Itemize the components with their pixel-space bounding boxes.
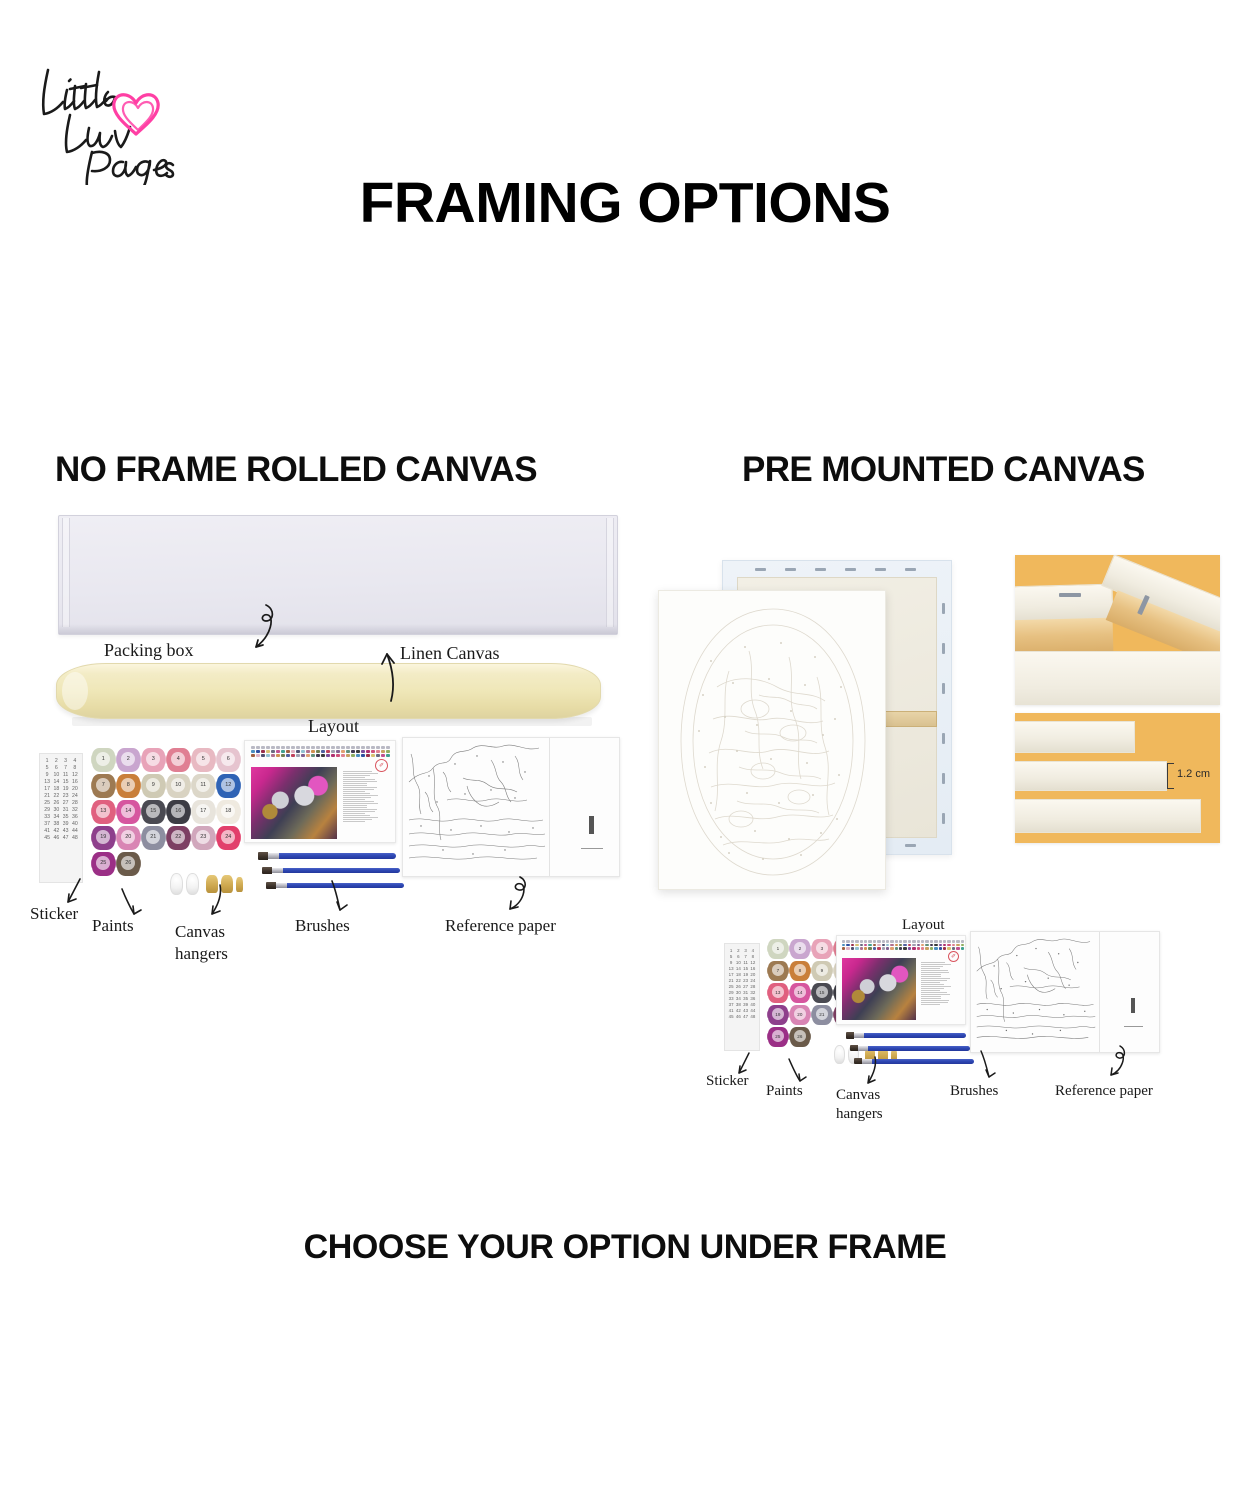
paint-pot-number: 9: [816, 964, 829, 976]
layout-swatch: [331, 746, 335, 749]
paint-pot: 14: [117, 800, 140, 824]
layout-swatch: [868, 947, 871, 950]
layout-swatch: [956, 940, 959, 943]
sticker-number: 36: [71, 814, 79, 820]
layout-swatch: [381, 750, 385, 753]
sticker-number: 29: [728, 990, 734, 995]
sticker-number: 37: [728, 1002, 734, 1007]
sticker-number: 19: [62, 786, 70, 792]
layout-swatch: [908, 940, 911, 943]
layout-swatch: [251, 750, 255, 753]
sticker-number: 5: [43, 765, 51, 771]
layout-swatch: [908, 944, 911, 947]
sticker-number: 2: [735, 948, 741, 953]
section-title-no-frame-rolled-canvas: NO FRAME ROLLED CANVAS: [55, 450, 537, 490]
sticker-number: 3: [743, 948, 749, 953]
layout-swatch: [296, 754, 300, 757]
layout-swatch: [341, 750, 345, 753]
layout-swatch: [890, 944, 893, 947]
arrow-canvas-hangers: [200, 883, 228, 919]
sticker-number: 10: [735, 960, 741, 965]
section-title-pre-mounted-canvas: PRE MOUNTED CANVAS: [742, 450, 1145, 490]
label-brushes-right: Brushes: [950, 1083, 998, 1099]
sticker-number: 12: [750, 960, 756, 965]
instruction-line: [343, 815, 370, 816]
instruction-line: [343, 797, 371, 798]
instruction-line: [921, 988, 944, 989]
sticker-number: 1: [43, 758, 51, 764]
layout-swatch: [921, 940, 924, 943]
instruction-line: [921, 996, 941, 997]
layout-swatch: [346, 750, 350, 753]
paint-pot: 2: [790, 939, 810, 959]
label-linen-canvas: Linen Canvas: [400, 644, 499, 663]
sticker-number: 22: [735, 978, 741, 983]
sticker-number: 25: [728, 984, 734, 989]
sticker-number: 38: [735, 1002, 741, 1007]
layout-swatch: [356, 750, 360, 753]
layout-swatch: [376, 754, 380, 757]
sticker-number: 4: [71, 758, 79, 764]
paint-pot-number: 21: [816, 1008, 829, 1020]
sticker-number: 32: [750, 990, 756, 995]
instruction-line: [343, 807, 367, 808]
sticker-number: 33: [728, 996, 734, 1001]
layout-swatch: [886, 940, 889, 943]
sticker-number: 6: [735, 954, 741, 959]
layout-swatch: [939, 940, 942, 943]
arrow-brushes: [326, 879, 350, 915]
instruction-line: [343, 801, 374, 802]
layout-swatch: [281, 754, 285, 757]
paint-pots-image: 1234567891011121314151617181920212223242…: [92, 748, 242, 877]
layout-swatch: [346, 754, 350, 757]
layout-swatch: [301, 754, 305, 757]
layout-swatch: [855, 940, 858, 943]
layout-swatch: [256, 750, 260, 753]
layout-swatch: [864, 944, 867, 947]
instruction-line: [921, 1000, 949, 1001]
paint-pot-number: 4: [171, 752, 185, 767]
layout-swatch: [925, 944, 928, 947]
sticker-number: 25: [43, 800, 51, 806]
paint-pot-number: 17: [196, 804, 210, 819]
sticker-number: 26: [735, 984, 741, 989]
label-reference-paper-right: Reference paper: [1055, 1083, 1153, 1099]
sticker-number: 24: [71, 793, 79, 799]
layout-swatch: [873, 944, 876, 947]
paint-pot: 14: [790, 983, 810, 1003]
sticker-number: 34: [52, 814, 60, 820]
paint-pot-number: 1: [772, 942, 785, 954]
instruction-line: [921, 1002, 948, 1003]
layout-swatch: [261, 746, 265, 749]
paint-pot-number: 26: [121, 856, 135, 871]
canvas-thickness-detail-photo: 1.2 cm: [1015, 713, 1220, 843]
layout-swatch: [376, 746, 380, 749]
layout-swatch: [943, 944, 946, 947]
layout-swatch: [895, 944, 898, 947]
sticker-number: 3: [62, 758, 70, 764]
instruction-line: [921, 990, 940, 991]
layout-swatch: [851, 947, 854, 950]
sticker-number: 40: [750, 1002, 756, 1007]
packing-box-image: [58, 515, 618, 635]
layout-swatch: [917, 940, 920, 943]
instruction-line: [343, 805, 367, 806]
layout-swatch: [917, 944, 920, 947]
layout-swatch: [386, 750, 390, 753]
paint-pot: 17: [192, 800, 215, 824]
layout-swatch: [296, 750, 300, 753]
layout-swatch: [256, 754, 260, 757]
sticker-number: 10: [52, 772, 60, 778]
layout-card-image: ✐: [244, 740, 396, 843]
sticker-number: 35: [62, 814, 70, 820]
paint-pot-number: 24: [221, 830, 235, 845]
layout-swatch: [846, 944, 849, 947]
layout-swatch: [903, 944, 906, 947]
layout-swatch: [925, 940, 928, 943]
layout-swatch: [376, 750, 380, 753]
instruction-line: [343, 779, 375, 780]
paint-pot: 22: [167, 826, 190, 850]
brush-1: [258, 853, 396, 859]
layout-swatch: [851, 944, 854, 947]
sticker-number: 15: [62, 779, 70, 785]
sticker-number: 8: [71, 765, 79, 771]
layout-swatch: [356, 746, 360, 749]
instruction-line: [343, 787, 377, 788]
layout-swatch: [316, 754, 320, 757]
layout-swatch: [366, 750, 370, 753]
paint-pot: 19: [768, 1005, 788, 1025]
label-paints: Paints: [92, 917, 134, 935]
instruction-line: [921, 962, 945, 963]
no-frame-rolled-canvas-photo: Packing box Linen Canvas Layout 12345678…: [30, 505, 650, 975]
paint-pot-number: 23: [196, 830, 210, 845]
layout-swatch: [266, 750, 270, 753]
paint-pot: 8: [117, 774, 140, 798]
instruction-line: [343, 789, 374, 790]
layout-swatch: [281, 750, 285, 753]
instruction-line: [921, 970, 948, 971]
brush-2-right: [850, 1046, 970, 1051]
layout-swatch: [286, 746, 290, 749]
layout-swatch: [356, 754, 360, 757]
layout-swatch: [943, 947, 946, 950]
layout-swatch: [286, 754, 290, 757]
sticker-number: 28: [71, 800, 79, 806]
layout-swatch: [271, 750, 275, 753]
instruction-line: [343, 811, 375, 812]
label-canvas-hangers-line2: hangers: [175, 945, 228, 963]
instruction-line: [343, 783, 367, 784]
sticker-number: 32: [71, 807, 79, 813]
layout-card-stamp-icon: ✐: [375, 759, 388, 772]
sticker-number: 2: [52, 758, 60, 764]
instruction-line: [921, 976, 941, 977]
layout-swatch: [855, 944, 858, 947]
paint-pot-number: 6: [221, 752, 235, 767]
layout-swatch: [921, 947, 924, 950]
sticker-number: 5: [728, 954, 734, 959]
layout-swatch: [930, 944, 933, 947]
layout-swatch: [860, 947, 863, 950]
reference-paper-image: [402, 737, 620, 877]
sticker-number: 20: [750, 972, 756, 977]
layout-card-image-right: ✐: [836, 935, 966, 1025]
sticker-number: 27: [62, 800, 70, 806]
layout-swatch: [266, 754, 270, 757]
layout-swatch: [886, 947, 889, 950]
reference-paper-image-right: [970, 931, 1160, 1053]
layout-swatch: [271, 754, 275, 757]
layout-swatch: [386, 754, 390, 757]
layout-swatch: [921, 944, 924, 947]
label-canvas-hangers-right-line1: Canvas: [836, 1087, 880, 1103]
layout-swatch: [331, 754, 335, 757]
paint-pot-number: 14: [794, 986, 807, 998]
layout-swatch: [912, 940, 915, 943]
sticker-number: 48: [750, 1014, 756, 1019]
sticker-number: 44: [71, 828, 79, 834]
sticker-number: 7: [62, 765, 70, 771]
sticker-number: 18: [735, 972, 741, 977]
instruction-line: [343, 793, 370, 794]
instruction-line: [921, 966, 943, 967]
layout-swatch: [366, 754, 370, 757]
arrow-reference-paper: [500, 873, 534, 915]
layout-swatch: [930, 940, 933, 943]
paint-pot-number: 18: [221, 804, 235, 819]
layout-swatch: [326, 750, 330, 753]
layout-swatch: [261, 754, 265, 757]
instruction-line: [343, 781, 377, 782]
paint-pot-number: 11: [196, 778, 210, 793]
sticker-number: 37: [43, 821, 51, 827]
sticker-number: 15: [743, 966, 749, 971]
layout-swatch: [371, 754, 375, 757]
arrow-sticker-right: [732, 1051, 754, 1077]
layout-swatch: [961, 940, 964, 943]
layout-swatch: [890, 947, 893, 950]
layout-swatch: [306, 754, 310, 757]
paint-pot: 21: [142, 826, 165, 850]
sticker-number: 31: [743, 990, 749, 995]
layout-swatch: [851, 940, 854, 943]
sticker-number: 48: [71, 835, 79, 841]
brand-logo: [18, 40, 208, 185]
pre-mounted-canvas-photo: 1.2 cm Layout 12345678910111213141516171…: [640, 505, 1230, 1135]
paint-pot-number: 9: [146, 778, 160, 793]
layout-swatch: [316, 746, 320, 749]
label-thickness: 1.2 cm: [1177, 768, 1210, 780]
paint-pot-number: 5: [196, 752, 210, 767]
paint-pot: 26: [790, 1027, 810, 1047]
paint-pot-number: 21: [146, 830, 160, 845]
layout-swatch: [842, 944, 845, 947]
instruction-line: [921, 984, 944, 985]
paint-pot: 13: [92, 800, 115, 824]
paint-pot-number: 8: [121, 778, 135, 793]
instruction-line: [921, 980, 947, 981]
instruction-line: [921, 1004, 940, 1005]
instruction-line: [921, 964, 951, 965]
layout-swatch: [947, 947, 950, 950]
layout-swatch: [842, 947, 845, 950]
layout-swatch: [276, 754, 280, 757]
paint-pot-number: 7: [96, 778, 110, 793]
label-reference-paper: Reference paper: [445, 917, 556, 935]
paint-pot: 1: [92, 748, 115, 772]
layout-card-stamp-icon-right: ✐: [948, 951, 959, 962]
layout-swatch: [899, 940, 902, 943]
instruction-line: [343, 785, 367, 786]
layout-swatch: [860, 940, 863, 943]
instruction-line: [343, 803, 378, 804]
sticker-number: 18: [52, 786, 60, 792]
layout-swatch: [306, 746, 310, 749]
layout-swatch: [291, 750, 295, 753]
layout-swatch: [956, 944, 959, 947]
layout-swatch: [877, 947, 880, 950]
layout-swatch: [842, 940, 845, 943]
instruction-line: [343, 773, 378, 774]
layout-swatch: [341, 754, 345, 757]
layout-swatch: [868, 940, 871, 943]
layout-swatch: [291, 746, 295, 749]
paint-pot: 20: [790, 1005, 810, 1025]
paint-pot: 21: [812, 1005, 832, 1025]
instruction-line: [921, 982, 940, 983]
layout-swatch: [895, 947, 898, 950]
layout-swatch: [361, 754, 365, 757]
label-canvas-hangers-line1: Canvas: [175, 923, 225, 941]
layout-swatch: [939, 947, 942, 950]
layout-swatch: [961, 944, 964, 947]
paint-pot-number: 13: [772, 986, 785, 998]
instruction-line: [343, 809, 377, 810]
paint-pot-number: 7: [772, 964, 785, 976]
sticker-number: 19: [743, 972, 749, 977]
paint-pot-number: 14: [121, 804, 135, 819]
instruction-line: [343, 821, 365, 822]
layout-swatch: [326, 754, 330, 757]
paint-pot: 26: [117, 852, 140, 876]
paint-pot-number: 19: [772, 1008, 785, 1020]
instruction-line: [921, 978, 950, 979]
paint-pot-number: 13: [96, 804, 110, 819]
sticker-number: 28: [750, 984, 756, 989]
layout-swatch: [925, 947, 928, 950]
sticker-number: 42: [52, 828, 60, 834]
brush-2: [262, 868, 400, 873]
layout-swatch: [882, 947, 885, 950]
sticker-number: 6: [52, 765, 60, 771]
instruction-line: [343, 791, 365, 792]
layout-swatch: [860, 944, 863, 947]
layout-swatch: [386, 746, 390, 749]
layout-swatch: [947, 944, 950, 947]
layout-swatch: [899, 944, 902, 947]
layout-swatch: [939, 944, 942, 947]
sticker-number: 7: [743, 954, 749, 959]
layout-swatch: [903, 940, 906, 943]
layout-swatch: [873, 940, 876, 943]
arrow-paints: [118, 887, 144, 919]
paint-pot: 1: [768, 939, 788, 959]
sticker-number: 9: [43, 772, 51, 778]
instruction-line: [343, 777, 365, 778]
layout-swatch: [934, 947, 937, 950]
sticker-number: 1: [728, 948, 734, 953]
sticker-number: 13: [728, 966, 734, 971]
instruction-line: [343, 775, 370, 776]
layout-swatch: [912, 947, 915, 950]
sticker-sheet-image: 1234567891011121314151617181920212223242…: [39, 753, 83, 883]
sticker-number: 30: [735, 990, 741, 995]
paint-pot: 20: [117, 826, 140, 850]
arrow-packing-box: [242, 603, 282, 658]
layout-swatch: [886, 944, 889, 947]
layout-swatch: [882, 944, 885, 947]
sticker-number: 13: [43, 779, 51, 785]
paint-pot-number: 16: [171, 804, 185, 819]
layout-swatch: [952, 944, 955, 947]
paint-pot: 8: [790, 961, 810, 981]
arrow-reference-paper-right: [1102, 1043, 1132, 1081]
paint-pot: 25: [92, 852, 115, 876]
layout-swatch: [381, 754, 385, 757]
footer-title: CHOOSE YOUR OPTION UNDER FRAME: [0, 1228, 1250, 1267]
layout-swatch: [952, 947, 955, 950]
paint-pot-number: 26: [794, 1030, 807, 1042]
paint-pot-number: 15: [146, 804, 160, 819]
sticker-number: 41: [43, 828, 51, 834]
paint-pot: 13: [768, 983, 788, 1003]
layout-swatch: [351, 746, 355, 749]
instruction-line: [343, 771, 372, 772]
sticker-number: 30: [52, 807, 60, 813]
layout-swatch: [864, 947, 867, 950]
sticker-number: 16: [71, 779, 79, 785]
layout-swatch: [291, 754, 295, 757]
layout-swatch: [890, 940, 893, 943]
layout-swatch: [895, 940, 898, 943]
sticker-number: 21: [728, 978, 734, 983]
sticker-number: 44: [750, 1008, 756, 1013]
layout-swatch: [351, 750, 355, 753]
linen-canvas-roll-image: [56, 663, 601, 719]
arrow-linen-canvas: [374, 648, 402, 703]
layout-swatch: [286, 750, 290, 753]
sticker-number: 36: [750, 996, 756, 1001]
sticker-sheet-image-right: 1234567891011121314151617181920212223242…: [724, 943, 760, 1051]
arrow-sticker: [60, 877, 86, 907]
layout-swatch: [346, 746, 350, 749]
arrow-paints-right: [786, 1057, 808, 1085]
layout-swatch: [351, 754, 355, 757]
paint-pot: 7: [768, 961, 788, 981]
paint-pot-number: 25: [96, 856, 110, 871]
instruction-line: [921, 974, 941, 975]
sticker-number: 39: [62, 821, 70, 827]
label-sticker: Sticker: [30, 905, 78, 923]
canvas-hanger-hook-2: [186, 873, 199, 895]
paint-pot: 18: [217, 800, 240, 824]
paint-pot: 7: [92, 774, 115, 798]
